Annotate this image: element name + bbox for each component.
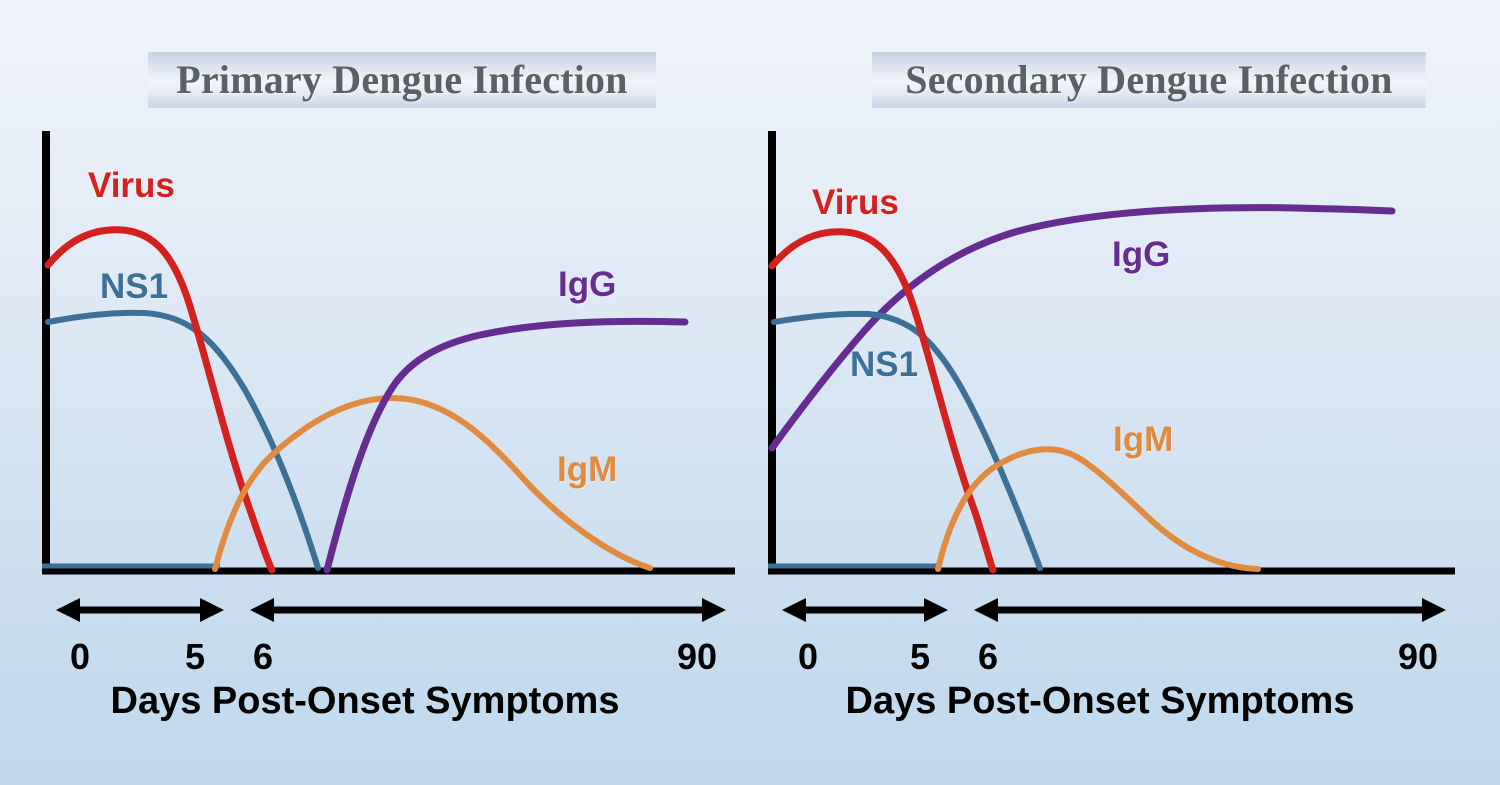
curve-label-igg-primary: IgG	[558, 265, 616, 305]
curve-label-igm-secondary: IgM	[1113, 420, 1173, 460]
axis-arrow-6-to-90-secondary	[974, 598, 1446, 622]
axis-arrow-6-to-90-primary	[250, 598, 726, 622]
x-tick-0-primary: 0	[70, 636, 90, 678]
x-tick-5-secondary: 5	[910, 636, 930, 678]
panel-secondary-dengue-infection: Secondary Dengue Infection	[750, 0, 1500, 785]
curve-igg-secondary	[772, 208, 1392, 448]
curve-ns1-primary	[48, 313, 318, 568]
curve-label-virus-secondary: Virus	[812, 183, 899, 223]
curve-label-virus-primary: Virus	[88, 166, 175, 206]
plot-area-primary	[0, 0, 750, 785]
dengue-kinetics-figure: Primary Dengue Infection	[0, 0, 1500, 785]
curve-label-ns1-secondary: NS1	[850, 345, 918, 385]
axis-arrow-0-to-5-primary	[56, 598, 224, 622]
x-tick-6-primary: 6	[253, 636, 273, 678]
panel-primary-dengue-infection: Primary Dengue Infection	[0, 0, 750, 785]
curve-label-igg-secondary: IgG	[1112, 235, 1170, 275]
x-axis-caption-primary: Days Post-Onset Symptoms	[0, 680, 730, 723]
x-axis-caption-secondary: Days Post-Onset Symptoms	[750, 680, 1450, 723]
curve-label-ns1-primary: NS1	[100, 267, 168, 307]
x-tick-0-secondary: 0	[798, 636, 818, 678]
curve-label-igm-primary: IgM	[557, 450, 617, 490]
x-tick-90-primary: 90	[677, 636, 717, 678]
x-tick-6-secondary: 6	[978, 636, 998, 678]
x-tick-5-primary: 5	[185, 636, 205, 678]
axis-arrow-0-to-5-secondary	[782, 598, 948, 622]
x-tick-90-secondary: 90	[1398, 636, 1438, 678]
curve-igg-primary	[327, 321, 685, 570]
plot-area-secondary	[750, 0, 1500, 785]
